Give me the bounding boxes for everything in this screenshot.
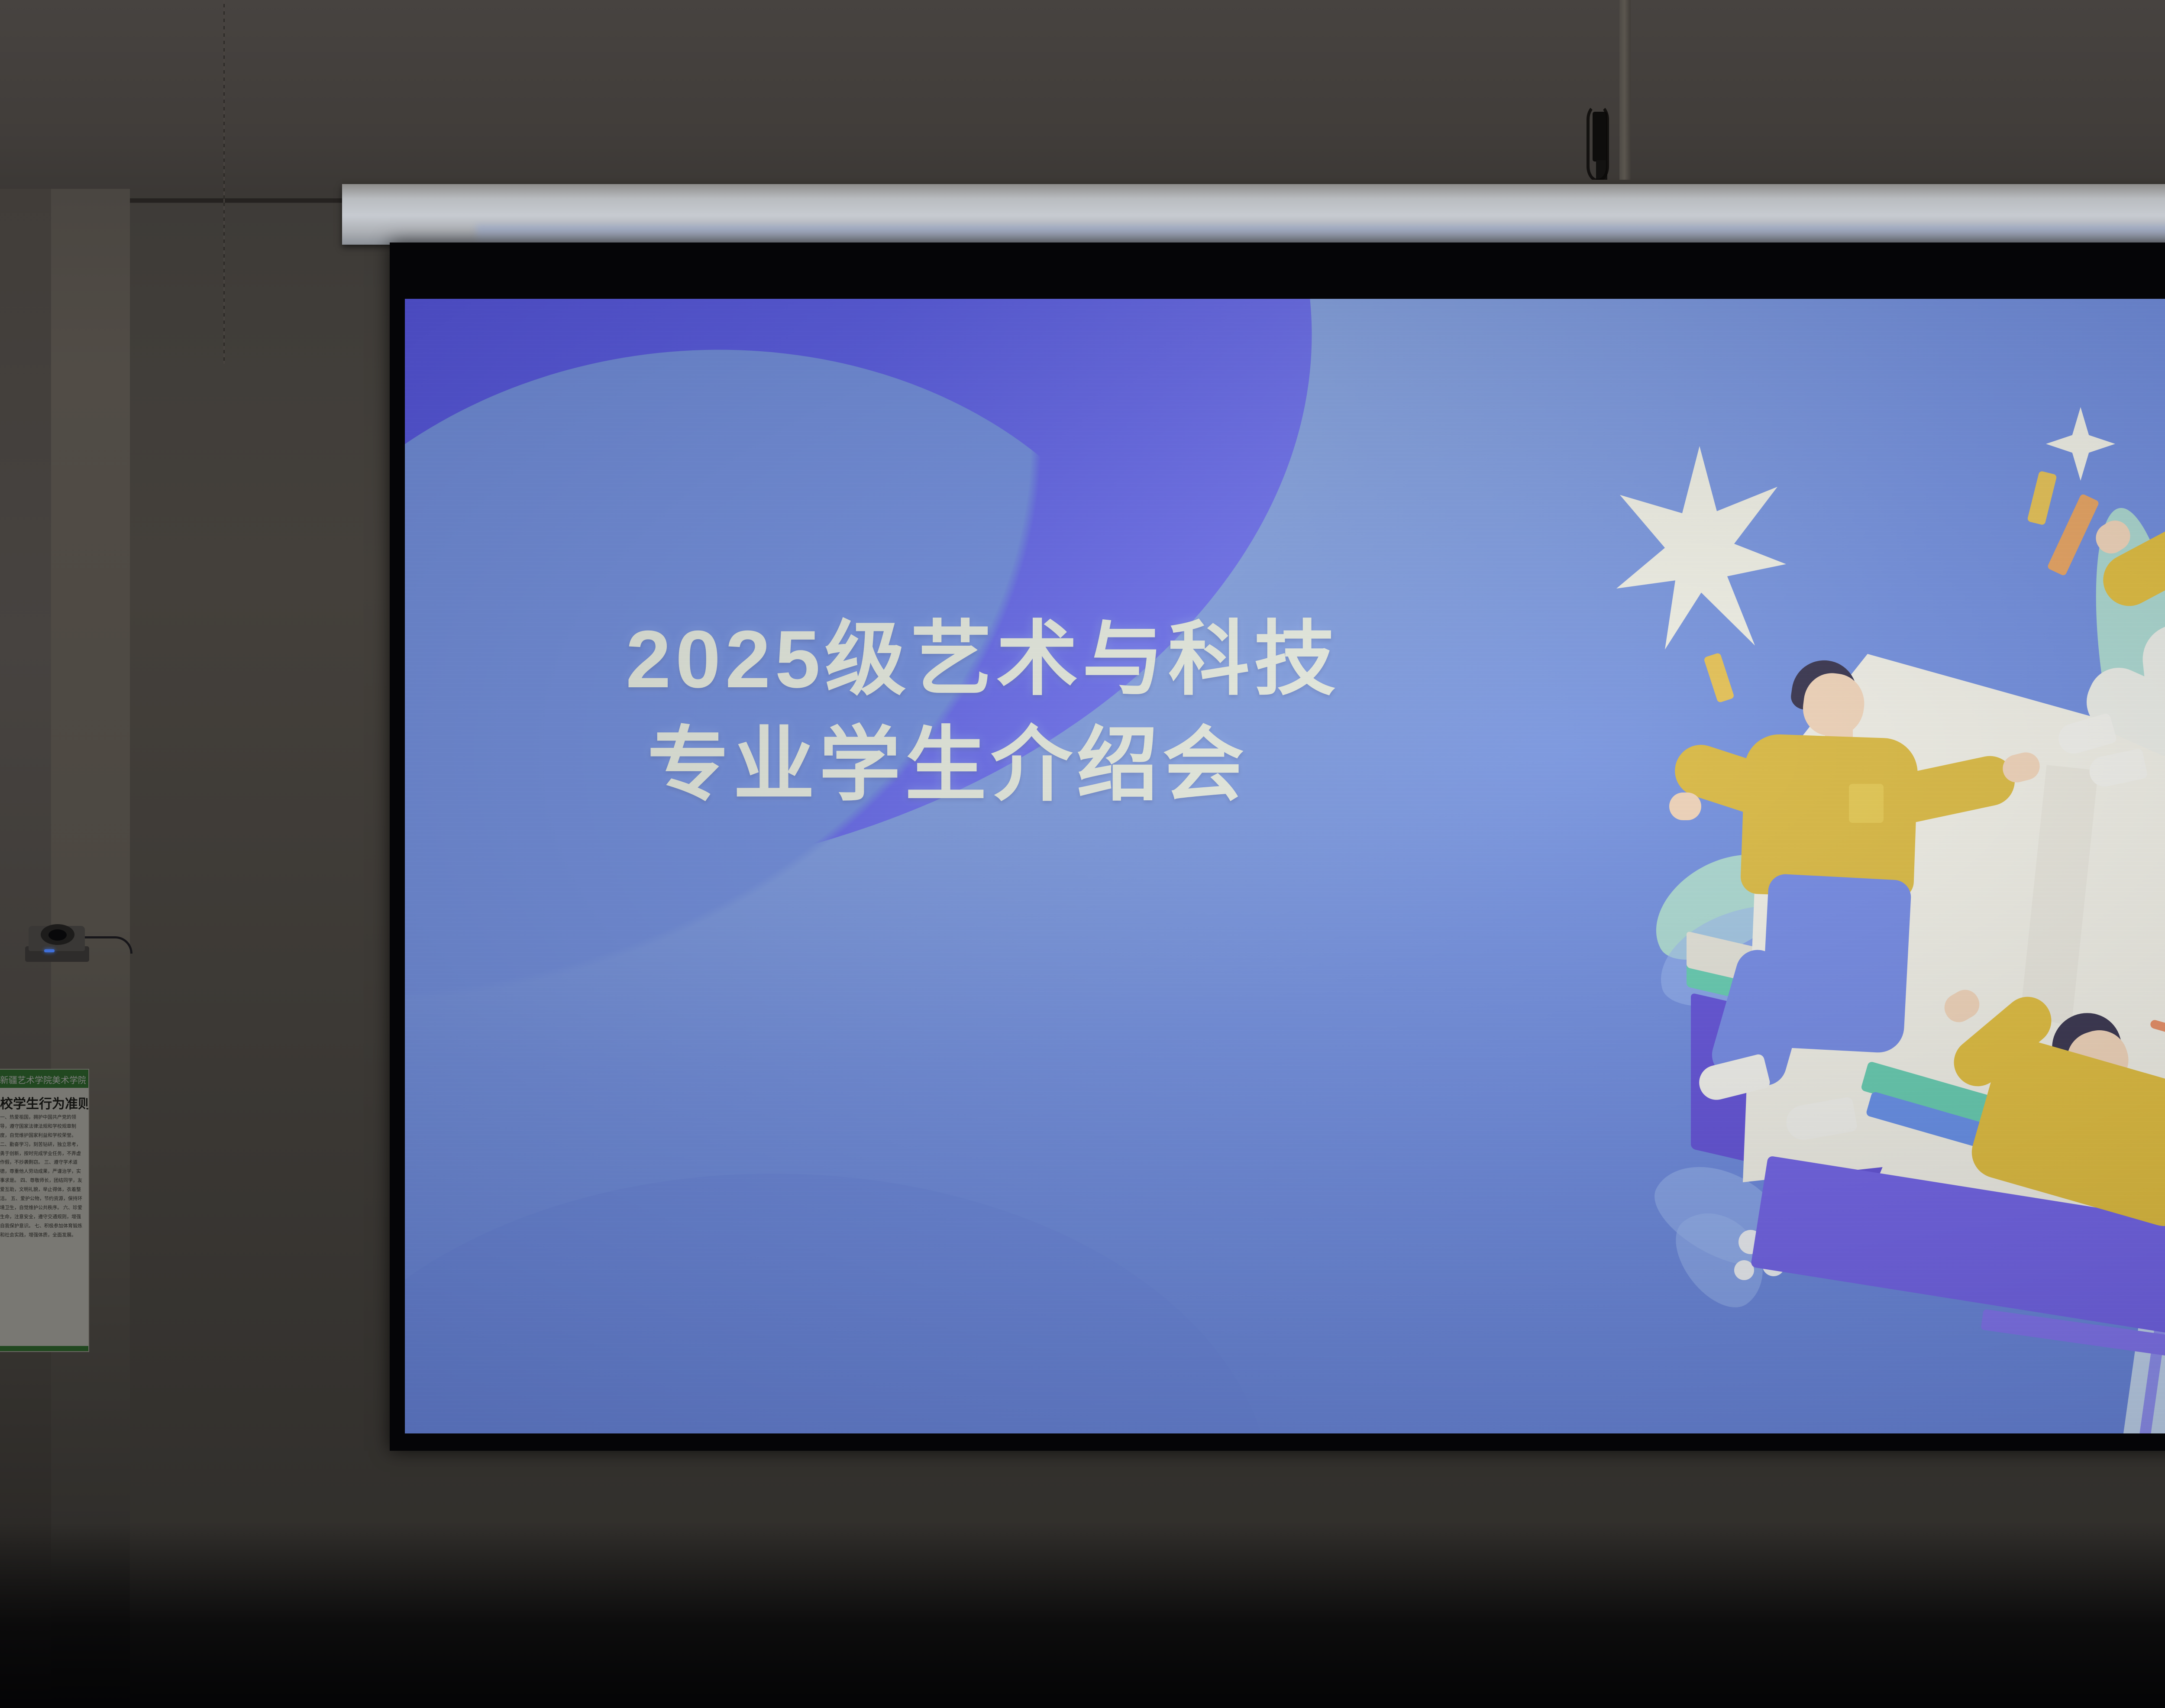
- pencil-icon: [2047, 493, 2100, 576]
- wall-upper-band: [0, 0, 2165, 204]
- foreground-darkness: [0, 1522, 2165, 1708]
- burst-star-small-icon: [2046, 407, 2115, 481]
- figure-walking-hand: [1669, 793, 1701, 820]
- poster-title: 校学生行为准则: [0, 1093, 89, 1112]
- slide-title-line-1: 2025级艺术与科技: [626, 606, 1340, 712]
- confetti-icon: [1703, 653, 1735, 703]
- burst-star-icon: [1613, 446, 1786, 650]
- slide-title: 2025级艺术与科技 专业学生介绍会: [626, 606, 1340, 818]
- figure-walking-torso: [1740, 733, 1919, 899]
- wall-cable: [1587, 104, 1609, 182]
- slide-wave-bottom-left: [405, 1174, 1271, 1433]
- hanging-chain: [223, 0, 225, 364]
- poster-footer-band: [0, 1346, 88, 1351]
- lecture-hall-photo: 2025级艺术与科技 专业学生介绍会: [0, 0, 2165, 1708]
- wall-conduit: [1619, 0, 1631, 204]
- camera-status-led: [44, 949, 55, 952]
- figure-walking-pocket: [1849, 784, 1884, 823]
- wall-poster: 新疆艺术学院美术学院 校学生行为准则 一、热爱祖国，拥护中国共产党的领导，遵守国…: [0, 1069, 89, 1352]
- camera-lens-inner-icon: [48, 929, 67, 941]
- presentation-slide: 2025级艺术与科技 专业学生介绍会: [405, 299, 2165, 1433]
- slide-title-line-2: 专业学生介绍会: [626, 712, 1340, 818]
- poster-header-text: 新疆艺术学院美术学院: [0, 1073, 86, 1086]
- confetti-icon: [2027, 471, 2057, 526]
- slide-illustration: [1600, 351, 2165, 1416]
- poster-body-text: 一、热爱祖国，拥护中国共产党的领导，遵守国家法律法规和学校规章制度，自觉维护国家…: [0, 1113, 85, 1340]
